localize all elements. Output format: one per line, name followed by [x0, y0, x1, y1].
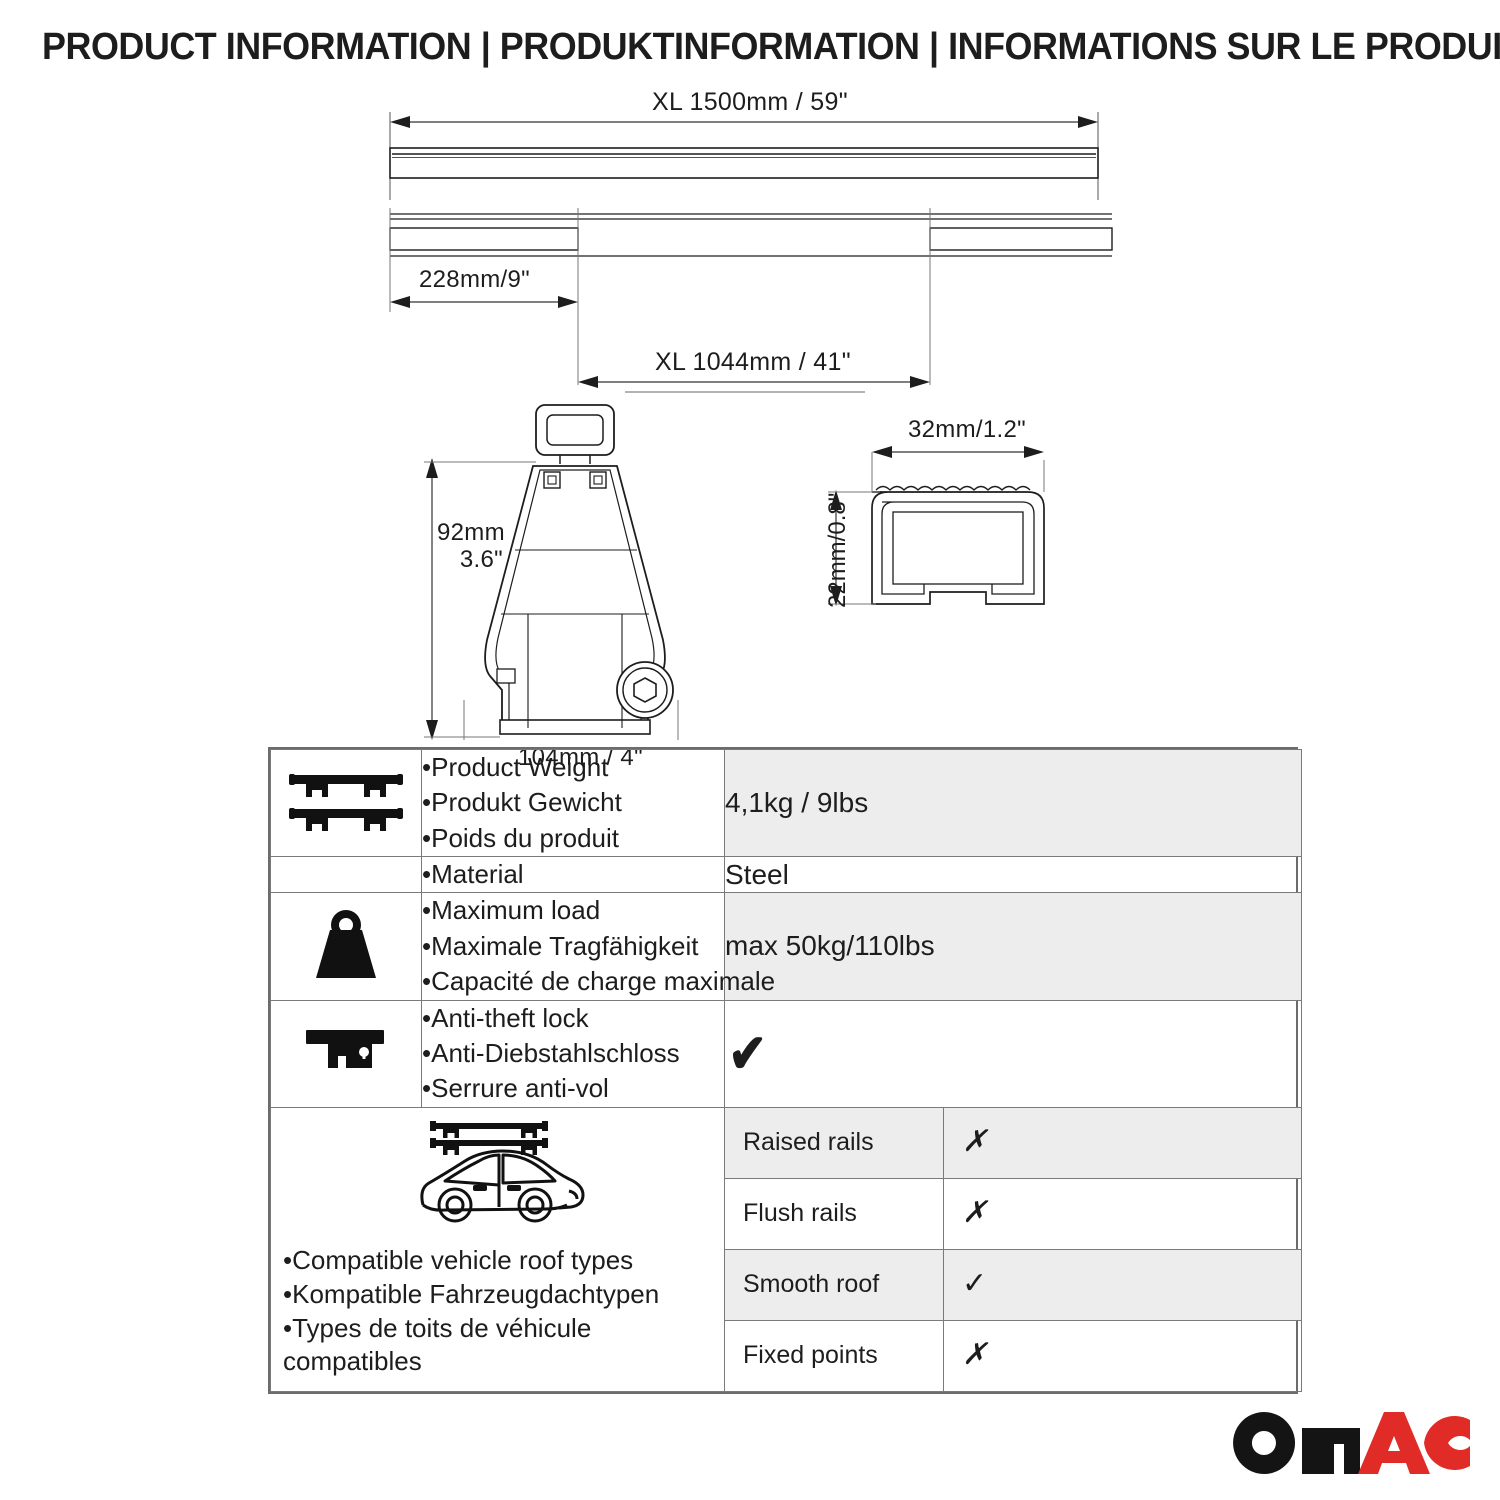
- table-row-compatibility: •Compatible vehicle roof types •Kompatib…: [271, 1107, 1302, 1391]
- omac-logo: [1232, 1412, 1470, 1474]
- check-icon: ✔: [728, 1027, 766, 1081]
- compat-row-fixed-points: Fixed points ✗: [725, 1320, 1301, 1391]
- table-row: •Product Weight •Produkt Gewicht •Poids …: [271, 750, 1302, 857]
- profile-width-dimension: 32mm/1.2": [908, 416, 1026, 444]
- specification-table: •Product Weight •Produkt Gewicht •Poids …: [268, 747, 1298, 1394]
- label-line: •Compatible vehicle roof types: [283, 1244, 716, 1278]
- compat-row-flush-rails: Flush rails ✗: [725, 1178, 1301, 1249]
- product-weight-labels: •Product Weight •Produkt Gewicht •Poids …: [422, 750, 725, 857]
- maximum-load-labels: •Maximum load •Maximale Tragfähigkeit •C…: [422, 893, 725, 1000]
- weight-icon-cell: [271, 893, 422, 1000]
- logo-letter-c: [1424, 1416, 1470, 1470]
- car-with-roof-bars-icon: [403, 1113, 593, 1233]
- compat-mark-flush-rails: ✗: [944, 1178, 1302, 1249]
- roof-bars-icon-cell: [271, 750, 422, 857]
- page-title: PRODUCT INFORMATION | PRODUKTINFORMATION…: [42, 26, 1384, 69]
- cross-icon: ✗: [962, 1198, 987, 1228]
- compat-label-flush-rails: Flush rails: [725, 1178, 944, 1249]
- compat-label-fixed-points: Fixed points: [725, 1320, 944, 1391]
- compat-mark-fixed-points: ✗: [944, 1320, 1302, 1391]
- compat-mark-raised-rails: ✗: [944, 1108, 1302, 1179]
- material-labels: •Material: [422, 857, 725, 893]
- material-value: Steel: [725, 857, 1302, 893]
- table-row: •Material Steel: [271, 857, 1302, 893]
- weight-icon: [304, 904, 388, 984]
- label-line: •Capacité de charge maximale: [422, 964, 724, 999]
- label-line: •Serrure anti-vol: [422, 1071, 724, 1106]
- label-line: •Poids du produit: [422, 821, 724, 856]
- label-line: •Kompatible Fahrzeugdachtypen: [283, 1278, 716, 1312]
- label-line: •Anti-Diebstahlschloss: [422, 1036, 724, 1071]
- end-offset-dimension: 228mm/9": [419, 266, 530, 294]
- table-row: •Maximum load •Maximale Tragfähigkeit •C…: [271, 893, 1302, 1000]
- product-weight-value: 4,1kg / 9lbs: [725, 750, 1302, 857]
- label-line: •Material: [422, 857, 724, 892]
- compatibility-description: •Compatible vehicle roof types •Kompatib…: [271, 1107, 725, 1391]
- maximum-load-value: max 50kg/110lbs: [725, 893, 1302, 1000]
- label-line: •Product Weight: [422, 750, 724, 785]
- label-line: •Maximum load: [422, 893, 724, 928]
- label-line: •Types de toits de véhicule compatibles: [283, 1312, 716, 1380]
- label-line: •Maximale Tragfähigkeit: [422, 929, 724, 964]
- anti-theft-value: ✔: [725, 1000, 1302, 1107]
- compatibility-options-table: Raised rails ✗ Flush rails ✗ Smooth roof…: [725, 1108, 1301, 1391]
- anti-theft-labels: •Anti-theft lock •Anti-Diebstahlschloss …: [422, 1000, 725, 1107]
- cross-icon: ✗: [962, 1127, 987, 1157]
- profile-height-dimension: 22mm/0.8": [824, 493, 852, 608]
- drawings-svg: [0, 80, 1500, 740]
- span-length-dimension: XL 1044mm / 41": [655, 348, 851, 377]
- foot-height-mm: 92mm: [437, 520, 503, 547]
- technical-drawings: XL 1500mm / 59" 228mm/9" XL 1044mm / 41"…: [0, 80, 1500, 740]
- lock-icon-cell: [271, 1000, 422, 1107]
- omac-logo-svg: [1232, 1412, 1470, 1474]
- logo-letter-m: [1302, 1428, 1360, 1474]
- logo-letter-a: [1358, 1412, 1430, 1474]
- compat-label-raised-rails: Raised rails: [725, 1108, 944, 1179]
- material-icon-cell: [271, 857, 422, 893]
- compatibility-labels: •Compatible vehicle roof types •Kompatib…: [271, 1238, 724, 1385]
- bar-length-dimension: XL 1500mm / 59": [652, 88, 848, 117]
- foot-mount-drawing: [485, 405, 673, 734]
- logo-letter-o: [1233, 1412, 1295, 1474]
- label-line: •Anti-theft lock: [422, 1001, 724, 1036]
- compat-mark-smooth-roof: ✓: [944, 1249, 1302, 1320]
- compat-row-raised-rails: Raised rails ✗: [725, 1108, 1301, 1179]
- compat-label-smooth-roof: Smooth roof: [725, 1249, 944, 1320]
- label-line: •Produkt Gewicht: [422, 785, 724, 820]
- check-icon: ✓: [962, 1269, 987, 1299]
- profile-cross-section: [828, 446, 1044, 606]
- foot-height-in: 3.6": [437, 547, 503, 574]
- compat-row-smooth-roof: Smooth roof ✓: [725, 1249, 1301, 1320]
- compatibility-options-cell: Raised rails ✗ Flush rails ✗ Smooth roof…: [725, 1107, 1302, 1391]
- table-row: •Anti-theft lock •Anti-Diebstahlschloss …: [271, 1000, 1302, 1107]
- cross-icon: ✗: [962, 1340, 987, 1370]
- roof-bars-icon: [286, 765, 406, 837]
- lock-icon: [296, 1020, 396, 1082]
